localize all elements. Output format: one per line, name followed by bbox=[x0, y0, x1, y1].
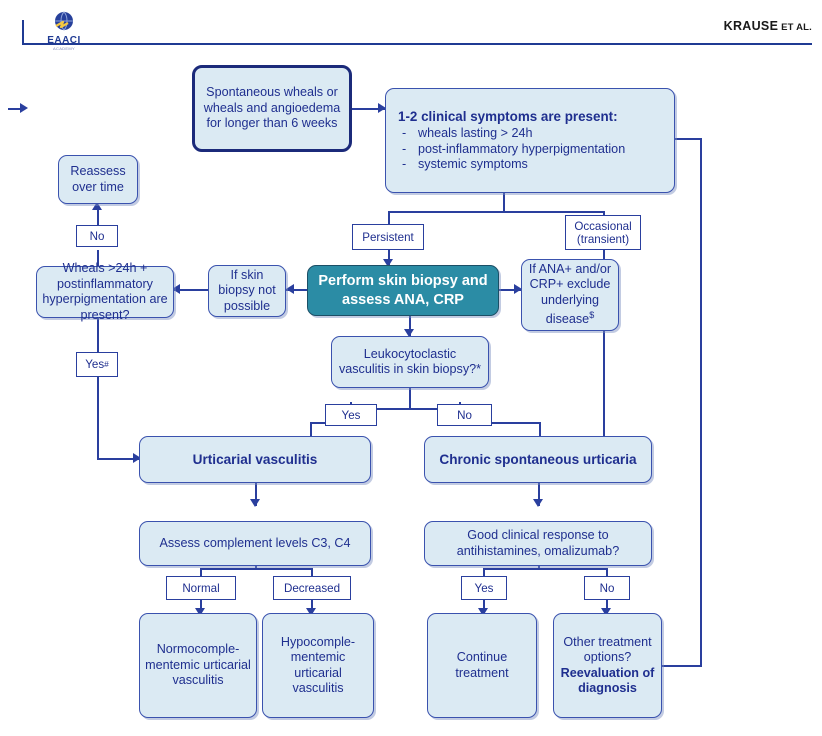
node-reassess-over-time[interactable]: Reassess over time bbox=[58, 155, 138, 204]
node-normocomplementemic-uv[interactable]: Normocomple- mentemic urticarial vasculi… bbox=[139, 613, 257, 718]
label-yes-biopsy[interactable]: Yes bbox=[325, 404, 377, 426]
header-tick-mark bbox=[22, 20, 24, 44]
other-treatment-bold: Reevaluation of diagnosis bbox=[561, 666, 655, 696]
arrowhead-uv-to-complement bbox=[250, 499, 260, 507]
edge-leuko-stem bbox=[409, 388, 411, 410]
edge-nobiopsy-right bbox=[492, 422, 540, 424]
edge-yes-down bbox=[97, 377, 99, 460]
label-persistent[interactable]: Persistent bbox=[352, 224, 424, 250]
label-no-wheals[interactable]: No bbox=[76, 225, 118, 247]
figure-page: EAACI ACADEMY KRAUSE ET AL. bbox=[0, 0, 822, 736]
eaaci-logo-subtext: ACADEMY bbox=[36, 46, 92, 51]
label-occasional-transient[interactable]: Occasional (transient) bbox=[565, 215, 641, 250]
node-if-skin-biopsy-not-possible[interactable]: If skin biopsy not possible bbox=[208, 265, 286, 317]
label-decreased[interactable]: Decreased bbox=[273, 576, 351, 600]
running-head-suffix: ET AL. bbox=[781, 22, 812, 33]
edge-feedback-up bbox=[700, 138, 702, 667]
edge-symptoms-stem bbox=[503, 193, 505, 212]
node-clinical-symptoms[interactable]: 1-2 clinical symptoms are present: -whea… bbox=[385, 88, 675, 193]
running-head-author: KRAUSE bbox=[724, 19, 779, 33]
node-chronic-spontaneous-urticaria[interactable]: Chronic spontaneous urticaria bbox=[424, 436, 652, 483]
edge-response-split bbox=[483, 568, 607, 570]
edge-symptoms-split bbox=[388, 211, 604, 213]
node-wheals-question[interactable]: Wheals >24h + postinflammatory hyperpigm… bbox=[36, 266, 174, 318]
label-yes-response[interactable]: Yes bbox=[461, 576, 507, 600]
label-yes-hash-marker: # bbox=[104, 358, 109, 371]
ana-crp-marker: $ bbox=[589, 310, 594, 320]
header-rule bbox=[22, 43, 812, 45]
edge-feedback-right bbox=[662, 665, 702, 667]
edge-to-persistent-label bbox=[388, 211, 390, 224]
arrowhead-into-start bbox=[20, 103, 28, 113]
node-assess-complement-levels[interactable]: Assess complement levels C3, C4 bbox=[139, 521, 371, 566]
symptom-item-1: -post-inflammatory hyperpigmentation bbox=[398, 142, 662, 158]
running-head: KRAUSE ET AL. bbox=[724, 19, 812, 33]
node-continue-treatment[interactable]: Continue treatment bbox=[427, 613, 537, 718]
edge-complement-split bbox=[200, 568, 312, 570]
globe-icon bbox=[52, 10, 76, 34]
eaaci-logo-text: EAACI bbox=[36, 35, 92, 46]
symptoms-heading: 1-2 clinical symptoms are present: bbox=[398, 109, 662, 125]
symptom-item-2: -systemic symptoms bbox=[398, 157, 662, 173]
eaaci-logo: EAACI ACADEMY bbox=[36, 10, 92, 54]
symptom-item-0: -wheals lasting > 24h bbox=[398, 126, 662, 142]
label-yes-hash[interactable]: Yes# bbox=[76, 352, 118, 377]
node-urticarial-vasculitis[interactable]: Urticarial vasculitis bbox=[139, 436, 371, 483]
arrowhead-biopsy-to-notpossible bbox=[286, 284, 294, 294]
label-normal[interactable]: Normal bbox=[166, 576, 236, 600]
ana-crp-text: If ANA+ and/or CRP+ exclude underlying d… bbox=[529, 262, 611, 327]
other-treatment-text: Other treatment options? bbox=[563, 635, 651, 665]
edge-no-to-reassess bbox=[97, 208, 99, 225]
label-no-biopsy[interactable]: No bbox=[437, 404, 492, 426]
node-start-spontaneous-wheals[interactable]: Spontaneous wheals or wheals and angioed… bbox=[192, 65, 352, 152]
node-hypocomplementemic-uv[interactable]: Hypocomple- mentemic urticarial vasculit… bbox=[262, 613, 374, 718]
node-other-treatment-options[interactable]: Other treatment options? Reevaluation of… bbox=[553, 613, 662, 718]
node-if-ana-crp-exclude[interactable]: If ANA+ and/or CRP+ exclude underlying d… bbox=[521, 259, 619, 331]
arrowhead-csu-to-response bbox=[533, 499, 543, 507]
label-no-response[interactable]: No bbox=[584, 576, 630, 600]
node-good-clinical-response[interactable]: Good clinical response to antihistamines… bbox=[424, 521, 652, 566]
node-perform-skin-biopsy[interactable]: Perform skin biopsy and assess ANA, CRP bbox=[307, 265, 499, 316]
edge-wheals-to-yes bbox=[97, 318, 99, 352]
node-leukocytoclastic-vasculitis[interactable]: Leukocytoclastic vasculitis in skin biop… bbox=[331, 336, 489, 388]
label-yes-hash-text: Yes bbox=[85, 358, 104, 371]
